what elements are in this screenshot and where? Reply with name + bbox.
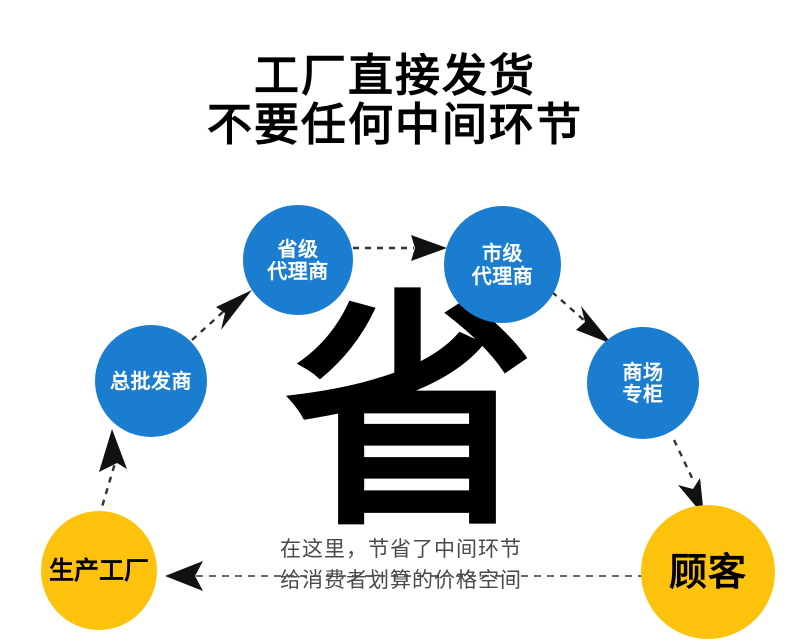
- node-shengji-dailishang[interactable]: 省级 代理商: [243, 205, 353, 315]
- infographic-canvas: 工厂直接发货 不要任何中间环节 省: [0, 0, 790, 641]
- node-shiji-dailishang[interactable]: 市级 代理商: [444, 206, 561, 323]
- node-label: 市级 代理商: [472, 242, 534, 287]
- title-line-2: 不要任何中间环节: [0, 101, 790, 150]
- connector-zongpifashang-to-shengji: [192, 290, 252, 340]
- node-label: 生产工厂: [49, 557, 149, 585]
- node-label: 商场 专柜: [623, 361, 664, 406]
- arrowhead-icon: [216, 290, 252, 330]
- node-guke[interactable]: 顾客: [641, 505, 775, 639]
- caption-line-1: 在这里，节省了中间环节: [236, 534, 566, 565]
- bottom-caption: 在这里，节省了中间环节 给消费者划算的价格空间: [236, 534, 566, 596]
- node-shengchan-gongchang[interactable]: 生产工厂: [41, 511, 157, 630]
- watermark-glyph-sheng: 省: [285, 300, 515, 550]
- arrowhead-icon: [99, 429, 127, 472]
- arrowhead-icon: [165, 561, 203, 591]
- node-label: 顾客: [669, 551, 747, 594]
- arrowhead-icon: [576, 306, 612, 344]
- connector-shengchan-to-zongpifashang: [99, 429, 127, 517]
- node-zongpifashang[interactable]: 总批发商: [95, 325, 207, 437]
- connector-shiji-to-shangchang: [552, 292, 612, 344]
- page-title: 工厂直接发货 不要任何中间环节: [0, 52, 790, 149]
- connector-shengji-to-shiji: [353, 235, 447, 261]
- arrowhead-icon: [411, 235, 447, 261]
- title-line-1: 工厂直接发货: [0, 52, 790, 101]
- caption-line-2: 给消费者划算的价格空间: [236, 565, 566, 596]
- node-label: 总批发商: [110, 370, 192, 392]
- node-label: 省级 代理商: [267, 238, 329, 283]
- node-shangchang-zhuangui[interactable]: 商场 专柜: [587, 327, 699, 439]
